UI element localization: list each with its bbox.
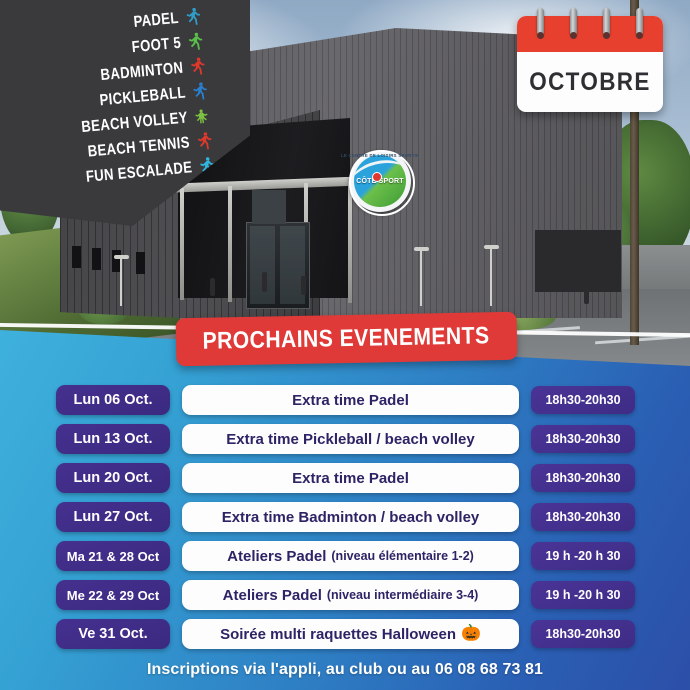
event-time-badge[interactable]: 18h30-20h30 <box>531 464 635 492</box>
window <box>136 252 145 274</box>
person-figure <box>584 287 589 304</box>
logo-ball-icon <box>372 172 382 182</box>
calendar-month-label: OCTOBRE <box>524 52 655 112</box>
pickleball-player-icon <box>190 81 212 103</box>
event-title-pill[interactable]: Ateliers Padel(niveau élémentaire 1-2) <box>182 541 519 571</box>
calendar-ring-icon <box>636 8 643 36</box>
event-row: Lun 20 Oct.Extra time Padel18h30-20h30 <box>0 462 690 494</box>
logo-arc-text: LE CENTRE DE LOISIRS SPORTIF <box>341 153 419 158</box>
registration-footer: Inscriptions via l'appli, au club ou au … <box>0 655 690 685</box>
event-date-badge[interactable]: Lun 27 Oct. <box>56 502 170 532</box>
event-date-badge[interactable]: Ma 21 & 28 Oct <box>56 541 170 571</box>
event-row: Ve 31 Oct.Soirée multi raquettes Hallowe… <box>0 618 690 650</box>
event-title-pill[interactable]: Ateliers Padel(niveau intermédiaire 3-4) <box>182 580 519 610</box>
event-date-badge[interactable]: Lun 13 Oct. <box>56 424 170 454</box>
footer-text: Inscriptions via l'appli, au club ou au … <box>147 661 543 679</box>
event-date-badge[interactable]: Lun 20 Oct. <box>56 463 170 493</box>
pumpkin-icon: 🎃 <box>461 626 481 642</box>
event-title-pill[interactable]: Extra time Badminton / beach volley <box>182 502 519 532</box>
person-figure <box>262 272 267 292</box>
event-title-pill[interactable]: Soirée multi raquettes Halloween🎃 <box>182 619 519 649</box>
event-time-badge[interactable]: 19 h -20 h 30 <box>531 581 635 609</box>
event-title-text: Extra time Padel <box>292 470 409 487</box>
beach-volley-pair-icon <box>193 106 215 128</box>
street-lamp <box>490 248 492 306</box>
event-time-badge[interactable]: 18h30-20h30 <box>531 620 635 648</box>
sport-item-label: PADEL <box>133 9 180 31</box>
entrance-side-glass <box>252 190 286 224</box>
event-row: Lun 06 Oct.Extra time Padel18h30-20h30 <box>0 384 690 416</box>
canopy-column <box>348 181 352 303</box>
event-title-pill[interactable]: Extra time Padel <box>182 385 519 415</box>
calendar-ring-icon <box>603 8 610 36</box>
cote-sport-logo: CÔTE SPORT LE CENTRE DE LOISIRS SPORTIF <box>349 150 411 212</box>
logo-ring <box>349 150 415 216</box>
event-time-badge[interactable]: 18h30-20h30 <box>531 425 635 453</box>
sports-list: PADELFOOT 5BADMINTONPICKLEBALLBEACH VOLL… <box>0 0 237 199</box>
event-time-badge[interactable]: 18h30-20h30 <box>531 386 635 414</box>
event-title-subtext: (niveau intermédiaire 3-4) <box>327 588 478 602</box>
beach-tennis-player-icon <box>195 131 217 153</box>
event-title-subtext: (niveau élémentaire 1-2) <box>331 549 473 563</box>
football-player-icon <box>186 31 208 53</box>
event-title-text: Extra time Badminton / beach volley <box>222 509 480 526</box>
window <box>72 246 81 268</box>
person-figure <box>210 278 215 296</box>
event-title-text: Soirée multi raquettes Halloween <box>220 626 456 643</box>
event-title-text: Extra time Padel <box>292 392 409 409</box>
calendar-ring-icon <box>570 8 577 36</box>
events-banner: PROCHAINS EVENEMENTS <box>176 312 518 367</box>
event-time-badge[interactable]: 18h30-20h30 <box>531 503 635 531</box>
events-banner-title: PROCHAINS EVENEMENTS <box>203 322 490 356</box>
event-title-pill[interactable]: Extra time Padel <box>182 463 519 493</box>
event-title-text: Ateliers Padel <box>223 587 322 604</box>
street-lamp <box>420 250 422 306</box>
event-date-badge[interactable]: Lun 06 Oct. <box>56 385 170 415</box>
canopy-column <box>228 186 232 302</box>
canopy-column <box>180 188 184 300</box>
person-figure <box>301 276 306 295</box>
badminton-player-icon <box>188 56 210 78</box>
calendar-ring-icon <box>537 8 544 36</box>
entrance-doors <box>246 222 310 309</box>
street-lamp <box>120 258 122 306</box>
event-row: Ma 21 & 28 OctAteliers Padel(niveau élém… <box>0 540 690 572</box>
door-glass <box>250 226 275 304</box>
event-time-badge[interactable]: 19 h -20 h 30 <box>531 542 635 570</box>
event-date-badge[interactable]: Ve 31 Oct. <box>56 619 170 649</box>
event-date-badge[interactable]: Me 22 & 29 Oct <box>56 580 170 610</box>
events-list: Lun 06 Oct.Extra time Padel18h30-20h30Lu… <box>0 384 690 657</box>
event-title-text: Extra time Pickleball / beach volley <box>226 431 474 448</box>
event-title-pill[interactable]: Extra time Pickleball / beach volley <box>182 424 519 454</box>
event-row: Me 22 & 29 OctAteliers Padel(niveau inte… <box>0 579 690 611</box>
event-row: Lun 27 Oct.Extra time Badminton / beach … <box>0 501 690 533</box>
window <box>92 248 101 270</box>
building-service-bay <box>535 230 621 292</box>
event-title-text: Ateliers Padel <box>227 548 326 565</box>
padel-player-icon <box>184 6 206 28</box>
event-row: Lun 13 Oct.Extra time Pickleball / beach… <box>0 423 690 455</box>
poster: CÔTE SPORT LE CENTRE DE LOISIRS SPORTIF … <box>0 0 690 690</box>
sport-item-label: FOOT 5 <box>131 34 182 56</box>
sport-item-label: FUN ESCALADE <box>85 159 193 187</box>
